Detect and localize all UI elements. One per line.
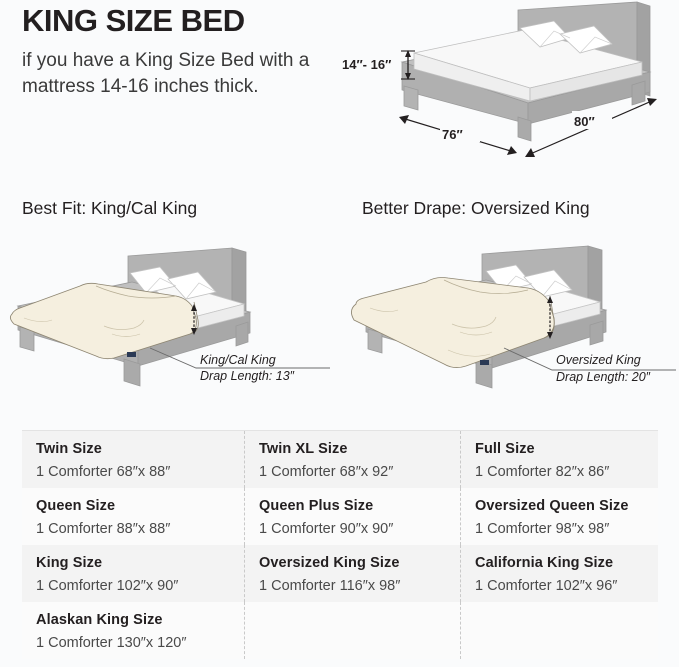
cell-title: Full Size — [475, 440, 658, 460]
page-subtitle: if you have a King Size Bed with a mattr… — [22, 48, 332, 100]
cell-title: King Size — [36, 554, 244, 574]
infographic-page: KING SIZE BED if you have a King Size Be… — [0, 0, 679, 667]
cell-title: Queen Plus Size — [259, 497, 460, 517]
table-cell: Full Size 1 Comforter 82″x 86″ — [460, 431, 658, 488]
section-heading-better-drape: Better Drape: Oversized King — [362, 198, 590, 219]
comforter-tag — [480, 360, 489, 365]
length-label: 80″ — [574, 114, 595, 129]
cell-subtitle: 1 Comforter 102″x 90″ — [36, 576, 244, 597]
table-cell: Twin XL Size 1 Comforter 68″x 92″ — [244, 431, 460, 488]
bed-dimension-illustration: 14″- 16″ 76″ 80″ — [332, 0, 679, 180]
note-line-1: Oversized King — [556, 353, 641, 367]
table-cell: King Size 1 Comforter 102″x 90″ — [22, 545, 244, 602]
table-cell: Twin Size 1 Comforter 68″x 88″ — [22, 431, 244, 488]
king-cal-king-illustration: King/Cal King Drap Length: 13″ — [0, 238, 340, 420]
table-cell: Oversized Queen Size 1 Comforter 98″x 98… — [460, 488, 658, 545]
table-cell: Alaskan King Size 1 Comforter 130″x 120″ — [22, 602, 244, 659]
cell-subtitle: 1 Comforter 68″x 92″ — [259, 462, 460, 483]
oversized-king-illustration: Oversized King Drap Length: 20″ — [340, 238, 679, 420]
header-block: KING SIZE BED if you have a King Size Be… — [22, 4, 332, 101]
table-cell: Oversized King Size 1 Comforter 116″x 98… — [244, 545, 460, 602]
table-cell — [244, 602, 460, 659]
cell-title: Alaskan King Size — [36, 611, 244, 631]
cell-title: Oversized Queen Size — [475, 497, 658, 517]
cell-subtitle: 1 Comforter 130″x 120″ — [36, 633, 244, 654]
comforter-tag — [127, 352, 136, 357]
thickness-label: 14″- 16″ — [342, 57, 391, 72]
table-row: King Size 1 Comforter 102″x 90″ Oversize… — [22, 545, 658, 602]
table-cell: Queen Plus Size 1 Comforter 90″x 90″ — [244, 488, 460, 545]
leg-back-right — [632, 81, 645, 105]
note-line-2: Drap Length: 13″ — [200, 369, 295, 383]
leg-back-right — [236, 322, 248, 346]
cell-subtitle: 1 Comforter 82″x 86″ — [475, 462, 658, 483]
cell-subtitle: 1 Comforter 102″x 96″ — [475, 576, 658, 597]
top-bed-diagram: 14″- 16″ 76″ 80″ — [332, 0, 679, 180]
cell-subtitle: 1 Comforter 116″x 98″ — [259, 576, 460, 597]
table-row: Twin Size 1 Comforter 68″x 88″ Twin XL S… — [22, 431, 658, 488]
right-bed-diagram: Oversized King Drap Length: 20″ — [340, 238, 679, 420]
leg-front-left — [404, 86, 418, 110]
table-cell — [460, 602, 658, 659]
cell-title: Oversized King Size — [259, 554, 460, 574]
comforter-size-table: Twin Size 1 Comforter 68″x 88″ Twin XL S… — [22, 430, 658, 658]
width-label: 76″ — [442, 127, 463, 142]
cell-subtitle: 1 Comforter 88″x 88″ — [36, 519, 244, 540]
cell-subtitle: 1 Comforter 98″x 98″ — [475, 519, 658, 540]
table-cell: Queen Size 1 Comforter 88″x 88″ — [22, 488, 244, 545]
leg-back-right — [590, 321, 603, 345]
note-line-1: King/Cal King — [200, 353, 276, 367]
width-dimension: 76″ — [399, 115, 517, 155]
leg-front-right — [518, 117, 531, 141]
cell-title: California King Size — [475, 554, 658, 574]
leg-front-right — [124, 359, 140, 386]
table-row: Alaskan King Size 1 Comforter 130″x 120″ — [22, 602, 658, 659]
cell-title: Twin Size — [36, 440, 244, 460]
cell-subtitle: 1 Comforter 68″x 88″ — [36, 462, 244, 483]
left-bed-diagram: King/Cal King Drap Length: 13″ — [0, 238, 340, 420]
note-line-2: Drap Length: 20″ — [556, 370, 651, 384]
table-cell: California King Size 1 Comforter 102″x 9… — [460, 545, 658, 602]
cell-title: Twin XL Size — [259, 440, 460, 460]
section-heading-best-fit: Best Fit: King/Cal King — [22, 198, 197, 219]
cell-subtitle: 1 Comforter 90″x 90″ — [259, 519, 460, 540]
table-row: Queen Size 1 Comforter 88″x 88″ Queen Pl… — [22, 488, 658, 545]
page-title: KING SIZE BED — [22, 4, 332, 38]
cell-title: Queen Size — [36, 497, 244, 517]
